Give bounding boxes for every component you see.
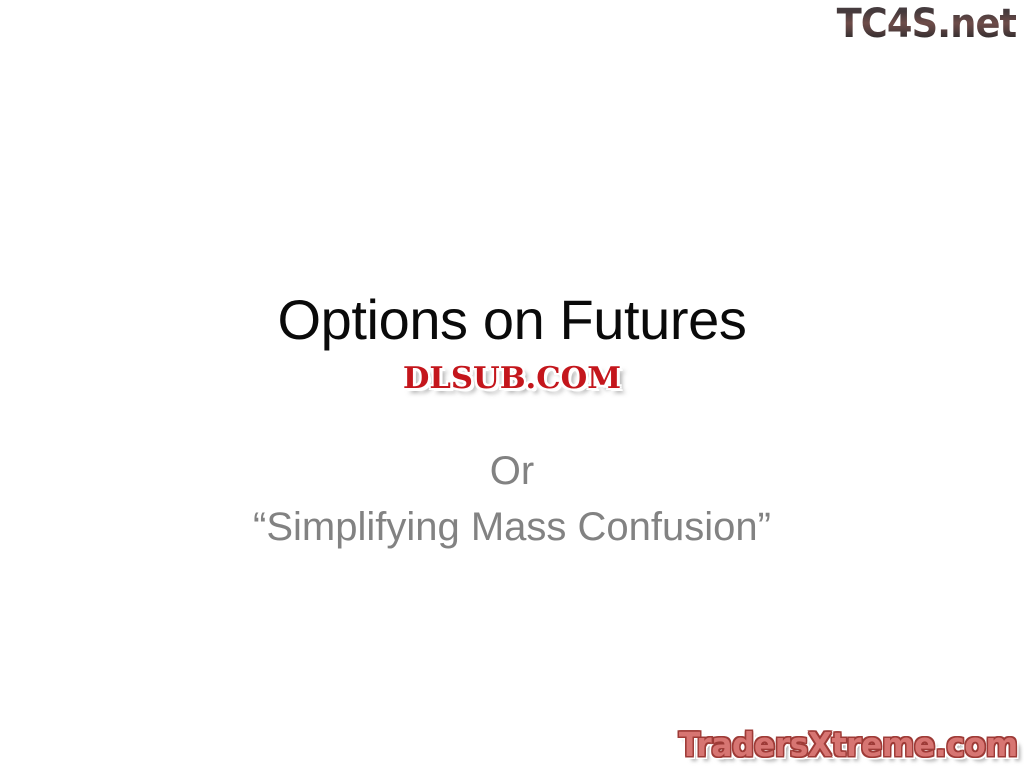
- subtitle-block: Or “Simplifying Mass Confusion”: [0, 443, 1024, 555]
- tradersxtreme-site-logo-watermark: TradersXtreme.com: [679, 726, 1018, 764]
- subtitle-line-1: Or: [0, 443, 1024, 499]
- tc4s-site-logo-watermark: TC4S.net: [836, 2, 1016, 46]
- dlsub-com-watermark: DLSUB.COM: [403, 362, 621, 396]
- title-block: Options on Futures: [0, 288, 1024, 352]
- presentation-slide: TC4S.net Options on Futures DLSUB.COM Or…: [0, 0, 1024, 768]
- subtitle-line-2: “Simplifying Mass Confusion”: [0, 499, 1024, 555]
- slide-title: Options on Futures: [0, 288, 1024, 352]
- dlsub-watermark-container: DLSUB.COM: [0, 362, 1024, 396]
